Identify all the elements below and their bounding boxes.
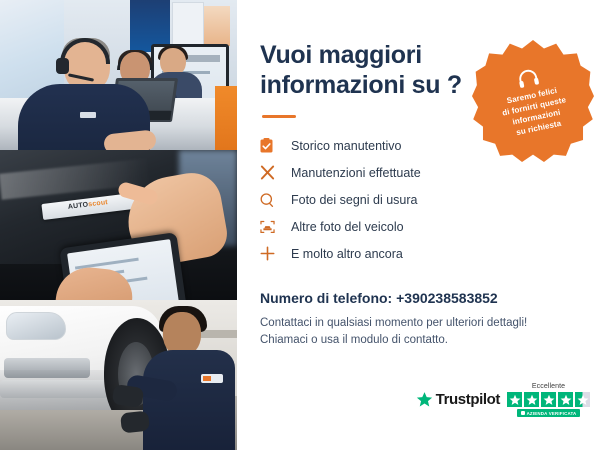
glove bbox=[120, 411, 150, 434]
car-headlight bbox=[6, 312, 66, 340]
star-rating bbox=[507, 392, 590, 407]
feature-label: Storico manutentivo bbox=[291, 139, 401, 153]
orange-object bbox=[215, 86, 237, 150]
feature-item-altre-foto-veicolo: Altre foto del veicolo bbox=[260, 213, 490, 240]
advert-card: AUTOscout bbox=[0, 0, 600, 450]
rating-label: Eccellente bbox=[532, 383, 565, 390]
star-filled bbox=[541, 392, 556, 407]
plus-icon bbox=[260, 246, 282, 261]
feature-label: Altre foto del veicolo bbox=[291, 220, 404, 234]
feature-list: Storico manutentivo Manutenzioni effettu… bbox=[260, 132, 490, 267]
contact-line-2: Chiamaci o usa il modulo di contatto. bbox=[260, 332, 584, 349]
foreground-operator bbox=[18, 40, 150, 150]
trustpilot-widget[interactable]: Trustpilot Eccellente bbox=[416, 383, 590, 417]
feature-label: Manutenzioni effettuate bbox=[291, 166, 421, 180]
mechanic-wheel-inspection-photo bbox=[0, 300, 237, 450]
uniform-logo bbox=[201, 374, 223, 383]
star-half bbox=[575, 392, 590, 407]
headset-earcup bbox=[56, 58, 69, 74]
contact-line-1: Contattaci in qualsiasi momento per ulte… bbox=[260, 315, 584, 332]
star-filled bbox=[558, 392, 573, 407]
vehicle-inspection-strip-photo: AUTOscout bbox=[0, 150, 237, 300]
content-panel: Vuoi maggiori informazioni su ? Saremo f… bbox=[237, 0, 600, 450]
feature-item-molto-altro: E molto altro ancora bbox=[260, 240, 490, 267]
headline-line-2: informazioni su ? bbox=[260, 71, 462, 99]
verified-company-badge: AZIENDA VERIFICATA bbox=[517, 409, 581, 417]
star-filled bbox=[524, 392, 539, 407]
photo-collage: AUTOscout bbox=[0, 0, 237, 450]
glove bbox=[112, 384, 144, 408]
call-center-operators-photo bbox=[0, 0, 237, 150]
trustpilot-star-icon bbox=[416, 391, 433, 408]
car-photo-scan-icon bbox=[260, 220, 282, 234]
request-info-badge: Saremo felici di fornirti queste informa… bbox=[472, 40, 594, 162]
wall-poster bbox=[204, 6, 230, 46]
feature-label: E molto altro ancora bbox=[291, 247, 403, 261]
trustpilot-rating: Eccellente bbox=[507, 383, 590, 417]
phone-number[interactable]: Numero di telefono: +390238583852 bbox=[260, 290, 584, 306]
title-divider bbox=[262, 115, 296, 118]
trustpilot-brand: Trustpilot bbox=[416, 391, 500, 417]
headline-line-1: Vuoi maggiori bbox=[260, 41, 422, 69]
star-filled bbox=[507, 392, 522, 407]
feature-label: Foto dei segni di usura bbox=[291, 193, 417, 207]
crossed-tools-icon bbox=[260, 165, 282, 180]
wall-board bbox=[172, 2, 204, 50]
magnifier-icon bbox=[260, 193, 282, 207]
check-icon bbox=[521, 411, 525, 415]
feature-item-manutenzioni-effettuate: Manutenzioni effettuate bbox=[260, 159, 490, 186]
uniform-badge bbox=[80, 112, 96, 118]
trustpilot-name: Trustpilot bbox=[436, 391, 500, 408]
contact-text: Contattaci in qualsiasi momento per ulte… bbox=[260, 315, 584, 350]
torso bbox=[143, 350, 235, 450]
strip-logo: AUTOscout bbox=[68, 199, 109, 211]
mechanic bbox=[143, 308, 235, 450]
starburst-shape bbox=[472, 40, 594, 162]
page-title: Vuoi maggiori informazioni su ? bbox=[260, 40, 465, 100]
verified-label: AZIENDA VERIFICATA bbox=[527, 411, 577, 416]
feature-item-storico-manutentivo: Storico manutentivo bbox=[260, 132, 490, 159]
clipboard-check-icon bbox=[260, 138, 282, 153]
feature-item-foto-segni-usura: Foto dei segni di usura bbox=[260, 186, 490, 213]
